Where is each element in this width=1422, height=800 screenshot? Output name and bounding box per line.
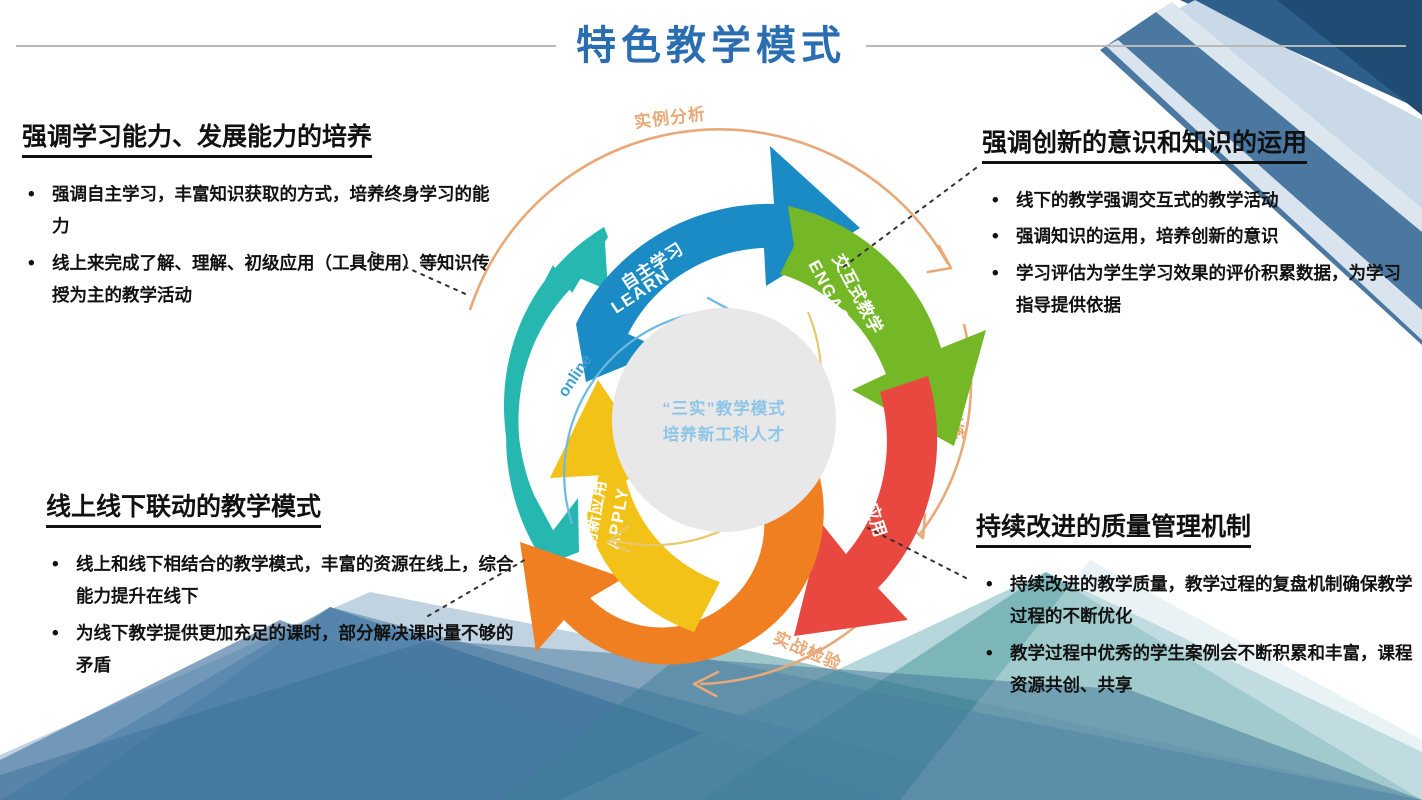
- list-item: 线上和线下相结合的教学模式，丰富的资源在线上，综合能力提升在线下: [46, 548, 516, 613]
- center-disc: [612, 308, 836, 532]
- title-rule-left: [16, 45, 556, 47]
- list-item: 线下的教学强调交互式的教学活动: [982, 184, 1412, 216]
- bullet-list-top-right: 线下的教学强调交互式的教学活动 强调知识的运用，培养创新的意识 学习评估为学生学…: [982, 184, 1412, 322]
- list-item: 线上来完成了解、理解、初级应用（工具使用）等知识传授为主的教学活动: [22, 247, 492, 312]
- bullet-list-bottom-left: 线上和线下相结合的教学模式，丰富的资源在线上，综合能力提升在线下 为线下教学提供…: [46, 548, 516, 682]
- section-heading-bottom-left: 线上线下联动的教学模式: [46, 492, 321, 528]
- section-top-right: 强调创新的意识和知识的运用 线下的教学强调交互式的教学活动 强调知识的运用，培养…: [982, 128, 1412, 326]
- section-heading-top-right: 强调创新的意识和知识的运用: [982, 128, 1307, 164]
- list-item: 强调自主学习，丰富知识获取的方式，培养终身学习的能力: [22, 178, 492, 243]
- slide-title-band: 特色教学模式: [0, 14, 1422, 78]
- bullet-list-top-left: 强调自主学习，丰富知识获取的方式，培养终身学习的能力 线上来完成了解、理解、初级…: [22, 178, 492, 312]
- list-item: 为线下教学提供更加充足的课时，部分解决课时量不够的矛盾: [46, 617, 516, 682]
- bullet-list-bottom-right: 持续改进的教学质量，教学过程的复盘机制确保教学过程的不断优化 教学过程中优秀的学…: [976, 568, 1422, 702]
- section-top-left: 强调学习能力、发展能力的培养 强调自主学习，丰富知识获取的方式，培养终身学习的能…: [22, 122, 492, 316]
- section-heading-bottom-right: 持续改进的质量管理机制: [976, 512, 1251, 548]
- list-item: 持续改进的教学质量，教学过程的复盘机制确保教学过程的不断优化: [976, 568, 1422, 633]
- page-title: 特色教学模式: [568, 26, 854, 66]
- outer-label-case-analysis: 实例分析: [633, 103, 707, 132]
- list-item: 学习评估为学生学习效果的评价积累数据，为学习指导提供依据: [982, 257, 1412, 322]
- center-label-line1: “三实”教学模式: [662, 398, 786, 418]
- title-rule-right: [866, 45, 1406, 47]
- section-bottom-right: 持续改进的质量管理机制 持续改进的教学质量，教学过程的复盘机制确保教学过程的不断…: [976, 512, 1422, 706]
- list-item: 教学过程中优秀的学生案例会不断积累和丰富，课程资源共创、共享: [976, 637, 1422, 702]
- list-item: 强调知识的运用，培养创新的意识: [982, 220, 1412, 252]
- slide-root: 特色教学模式 强调学习能力、发展能力的培养 强调自主学习，丰富知识获取的方式，培…: [0, 0, 1422, 800]
- section-bottom-left: 线上线下联动的教学模式 线上和线下相结合的教学模式，丰富的资源在线上，综合能力提…: [46, 492, 516, 686]
- section-heading-top-left: 强调学习能力、发展能力的培养: [22, 122, 372, 158]
- center-label-line2: 培养新工科人才: [663, 424, 786, 444]
